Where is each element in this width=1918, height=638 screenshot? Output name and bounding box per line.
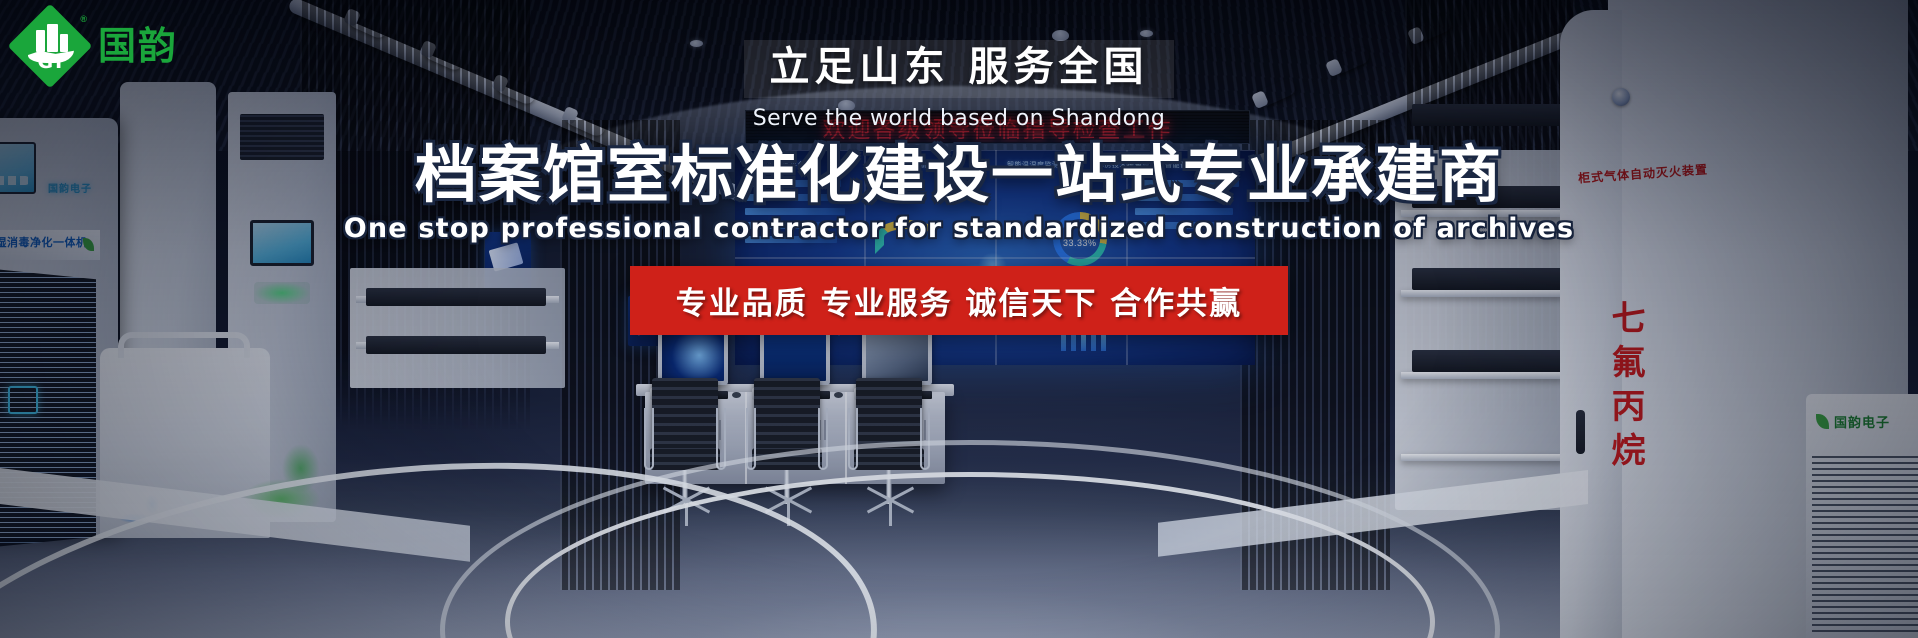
- chair-armrest: [644, 408, 654, 470]
- mouse: [732, 392, 741, 398]
- chair-back: [652, 378, 718, 450]
- purifier-badge-icon: [8, 386, 38, 414]
- shelf-storage-box: [366, 336, 546, 354]
- precision-ac-unit: 国韵电子: [1806, 394, 1918, 638]
- cabinet-handle: [1576, 410, 1585, 454]
- monitor-screen: [764, 334, 826, 381]
- slogan-banner: 专业品质 专业服务 诚信天下 合作共赢: [630, 266, 1288, 335]
- building-icon: [60, 34, 68, 52]
- mouse: [834, 392, 843, 398]
- logo-wordmark: 国韵: [98, 27, 178, 65]
- monitor-screen: [866, 334, 928, 381]
- ac-grille: [1812, 452, 1918, 632]
- tagline-en: Serve the world based on Shandong: [0, 106, 1918, 131]
- monitor-screen: [662, 334, 724, 381]
- trademark-icon: ®: [80, 14, 87, 24]
- headline-cn: 档案馆室标准化建设一站式专业承建商: [0, 141, 1918, 209]
- workstation-monitor: [658, 330, 728, 385]
- logo-initials: GY: [31, 51, 71, 73]
- building-icon: [36, 30, 45, 52]
- building-icon: [47, 24, 58, 52]
- shelf-board: [1401, 454, 1564, 461]
- cart-handle: [118, 332, 250, 358]
- logo-inner-graphic: GY: [14, 10, 86, 82]
- ac-brand-label: 国韵电子: [1834, 412, 1890, 431]
- chair-back: [754, 378, 820, 450]
- workstation-monitor: [862, 330, 932, 385]
- leaf-icon: [1816, 414, 1829, 429]
- tagline-container: 立足山东 服务全国: [744, 40, 1175, 98]
- banner-copy-block: 立足山东 服务全国 Serve the world based on Shand…: [0, 0, 1918, 335]
- logo-mark-icon: GY ®: [14, 10, 86, 82]
- headline-en: One stop professional contractor for sta…: [0, 213, 1918, 244]
- shelf-storage-box: [1412, 350, 1562, 372]
- chair-back: [856, 378, 922, 450]
- shelf-board: [1401, 372, 1564, 379]
- slogan-cn: 专业品质 专业服务 诚信天下 合作共赢: [676, 286, 1242, 322]
- company-logo[interactable]: GY ® 国韵: [14, 10, 178, 82]
- workstation-monitor: [760, 330, 830, 385]
- promo-banner: 欢迎各级领导莅临指导检查工作 综合管理服务平台 档案管理信息统计平台 智能温湿度…: [0, 0, 1918, 638]
- tagline-cn: 立足山东 服务全国: [770, 44, 1149, 90]
